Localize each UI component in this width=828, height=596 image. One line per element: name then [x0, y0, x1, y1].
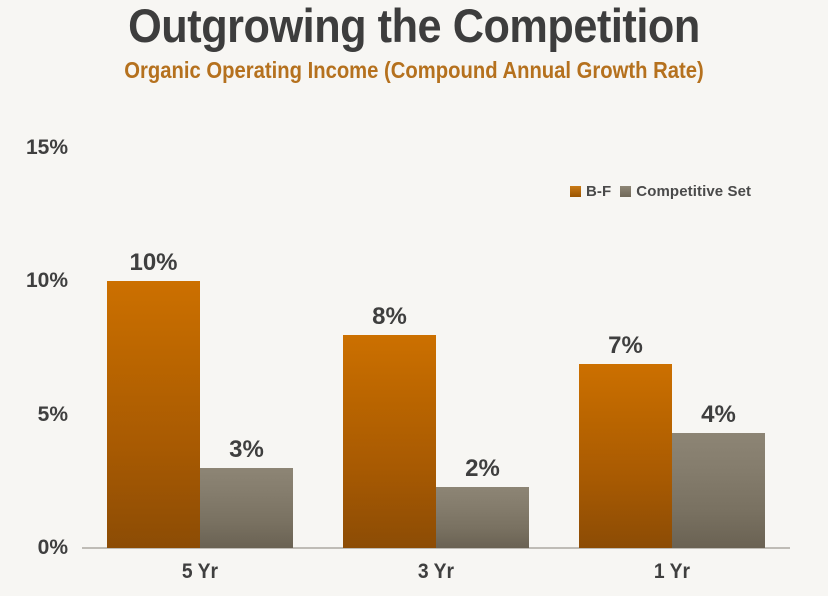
bar-value-3yr-competitive-set: 2%: [465, 455, 500, 483]
bar-3yr-competitive-set[interactable]: 2%: [436, 487, 529, 548]
bar-slot-5yr-competitive-set: 3%: [200, 148, 293, 548]
x-axis-category-labels: 5 Yr 3 Yr 1 Yr: [82, 560, 790, 584]
bar-slot-1yr-competitive-set: 4%: [672, 148, 765, 548]
bar-slot-1yr-bf: 7%: [579, 148, 672, 548]
bar-value-5yr-bf: 10%: [129, 249, 177, 277]
chart-container: Outgrowing the Competition Organic Opera…: [0, 0, 828, 596]
bar-slot-5yr-bf: 10%: [107, 148, 200, 548]
bar-group-3yr: 8% 2%: [318, 148, 554, 548]
y-axis-tick-0: 0%: [38, 536, 68, 560]
x-axis-label-5yr: 5 Yr: [91, 560, 308, 584]
bar-value-5yr-competitive-set: 3%: [229, 436, 264, 464]
x-axis-label-3yr: 3 Yr: [327, 560, 544, 584]
y-axis-tick-5: 5%: [38, 403, 68, 427]
bar-3yr-bf[interactable]: 8%: [343, 335, 436, 548]
bar-value-3yr-bf: 8%: [372, 303, 407, 331]
y-axis-tick-10: 10%: [26, 269, 68, 293]
bar-value-1yr-competitive-set: 4%: [701, 401, 736, 429]
bar-5yr-bf[interactable]: 10%: [107, 281, 200, 548]
chart-subtitle: Organic Operating Income (Compound Annua…: [50, 56, 779, 84]
bar-value-1yr-bf: 7%: [608, 332, 643, 360]
bar-group-1yr: 7% 4%: [554, 148, 790, 548]
bar-groups: 10% 3% 8%: [82, 148, 790, 548]
y-axis-tick-15: 15%: [26, 136, 68, 160]
bar-1yr-bf[interactable]: 7%: [579, 364, 672, 548]
x-axis-label-1yr: 1 Yr: [563, 560, 780, 584]
plot-area: 10% 3% 8%: [82, 148, 790, 548]
bar-group-5yr: 10% 3%: [82, 148, 318, 548]
bar-5yr-competitive-set[interactable]: 3%: [200, 468, 293, 548]
bar-slot-3yr-bf: 8%: [343, 148, 436, 548]
bar-1yr-competitive-set[interactable]: 4%: [672, 433, 765, 548]
bar-slot-3yr-competitive-set: 2%: [436, 148, 529, 548]
y-axis-labels: 0% 5% 10% 15%: [0, 148, 68, 548]
chart-title: Outgrowing the Competition: [33, 0, 795, 52]
